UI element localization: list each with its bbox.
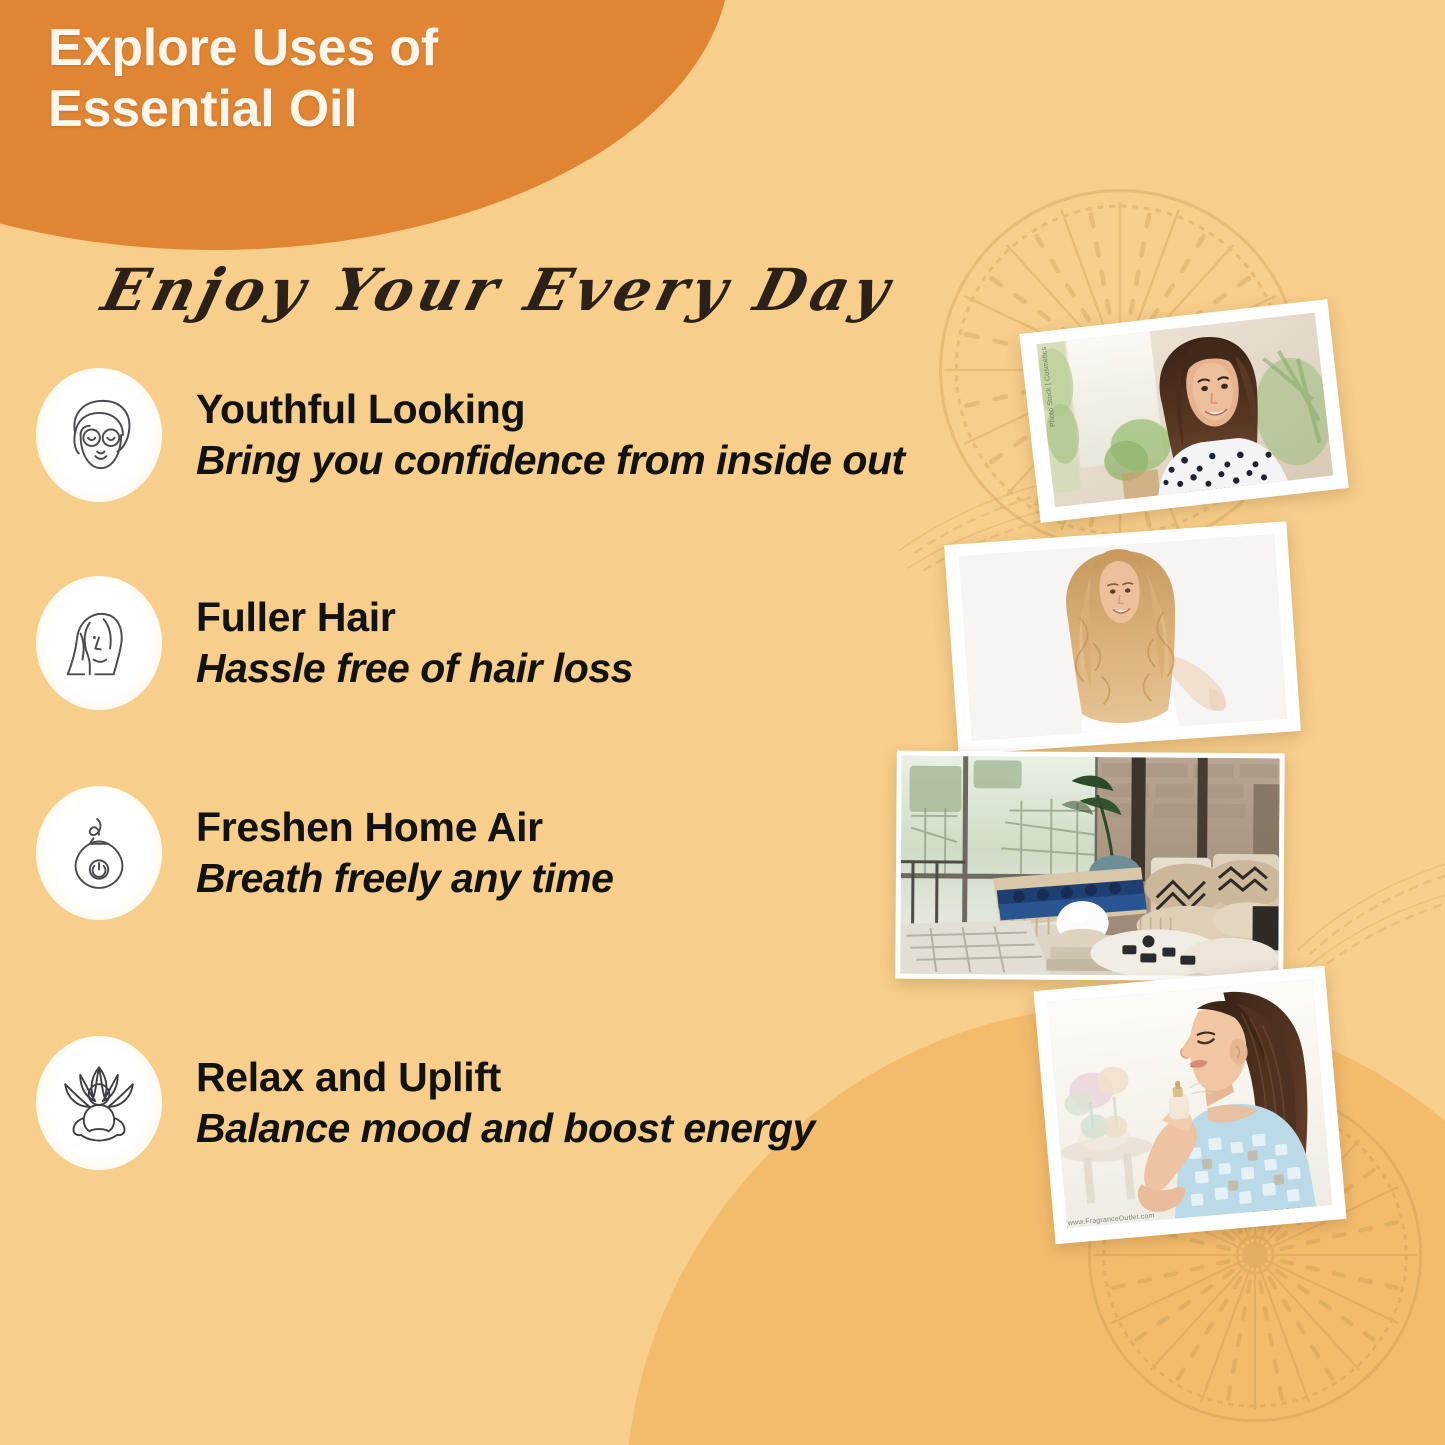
photo-image <box>900 756 1280 977</box>
feature-text-fuller-hair: Fuller Hair Hassle free of hair loss <box>196 593 633 692</box>
facial-mask-face-icon <box>32 368 166 502</box>
photo-blonde-long-hair <box>944 521 1301 754</box>
photo-smiling-woman: Photo Stock | Cosmetics <box>1019 299 1349 523</box>
feature-row-freshen-home-air: Freshen Home Air Breath freely any time <box>32 786 613 920</box>
page-title-line-2: Essential Oil <box>48 79 608 140</box>
feature-subtitle: Breath freely any time <box>196 855 613 903</box>
lotus-meditation-icon <box>32 1036 166 1170</box>
feature-title: Relax and Uplift <box>196 1055 815 1101</box>
feature-title: Fuller Hair <box>196 595 633 641</box>
feature-row-relax-and-uplift: Relax and Uplift Balance mood and boost … <box>32 1036 815 1170</box>
feature-subtitle: Balance mood and boost energy <box>196 1105 815 1153</box>
photo-living-room-diffuser <box>895 751 1285 982</box>
feature-title: Youthful Looking <box>196 387 905 433</box>
photo-image <box>959 534 1287 741</box>
feature-title: Freshen Home Air <box>196 805 613 851</box>
photo-woman-perfume: www.FragranceOutlet.com <box>1033 966 1346 1244</box>
photo-image <box>1036 313 1333 508</box>
feature-row-youthful-looking: Youthful Looking Bring you confidence fr… <box>32 368 905 502</box>
feature-row-fuller-hair: Fuller Hair Hassle free of hair loss <box>32 576 633 710</box>
feature-text-freshen-home-air: Freshen Home Air Breath freely any time <box>196 803 613 902</box>
feature-text-relax-and-uplift: Relax and Uplift Balance mood and boost … <box>196 1053 815 1152</box>
page-title-line-1: Explore Uses of <box>48 18 608 79</box>
tagline: Enjoy Your Every Day <box>96 256 873 324</box>
feature-subtitle: Bring you confidence from inside out <box>196 437 905 485</box>
photo-image <box>1047 979 1332 1228</box>
poster-canvas: Explore Uses of Essential Oil Enjoy Your… <box>0 0 1445 1445</box>
page-title: Explore Uses of Essential Oil <box>48 18 608 140</box>
hair-profile-icon <box>32 576 166 710</box>
feature-text-youthful-looking: Youthful Looking Bring you confidence fr… <box>196 385 905 484</box>
feature-subtitle: Hassle free of hair loss <box>196 645 633 693</box>
aroma-diffuser-icon <box>32 786 166 920</box>
